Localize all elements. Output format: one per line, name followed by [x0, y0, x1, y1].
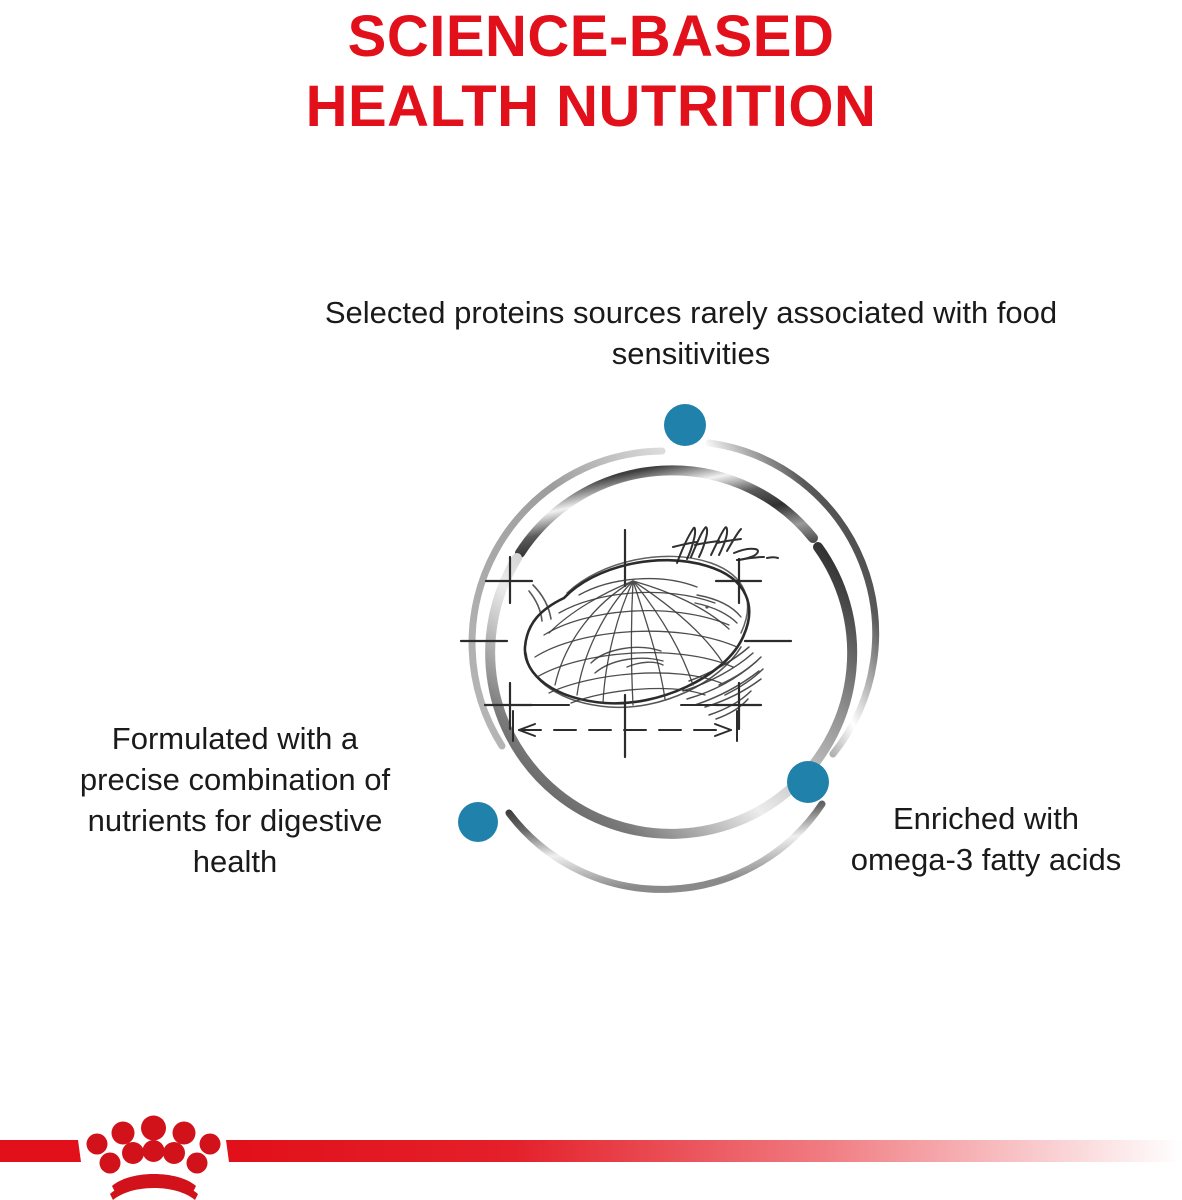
accent-dot-bottom-left — [458, 802, 498, 842]
footer-bar-left — [0, 1140, 81, 1162]
kibble-diagram — [389, 385, 899, 895]
kibble-meridians — [549, 581, 729, 705]
caption-left-digestive-health: Formulated with a precise combination of… — [70, 718, 400, 882]
outer-ring — [472, 443, 876, 889]
outer-arc-bottom — [509, 804, 822, 889]
handwriting-annotation — [673, 527, 778, 563]
product-feature-panel: SCIENCE-BASED HEALTH NUTRITION Selected … — [0, 0, 1182, 1200]
page-title-line-1: SCIENCE-BASED — [0, 2, 1182, 72]
brand-footer — [0, 1088, 1182, 1200]
accent-dot-top — [664, 404, 706, 446]
outer-arc-top-right — [709, 443, 876, 754]
footer-bar-right — [226, 1140, 1182, 1162]
royal-canin-crown-icon — [87, 1116, 221, 1200]
caption-top-proteins: Selected proteins sources rarely associa… — [291, 292, 1091, 374]
page-title-line-2: HEALTH NUTRITION — [0, 72, 1182, 142]
accent-dot-right — [787, 761, 829, 803]
page-title: SCIENCE-BASED HEALTH NUTRITION — [0, 2, 1182, 142]
kibble-sketch — [461, 527, 791, 757]
